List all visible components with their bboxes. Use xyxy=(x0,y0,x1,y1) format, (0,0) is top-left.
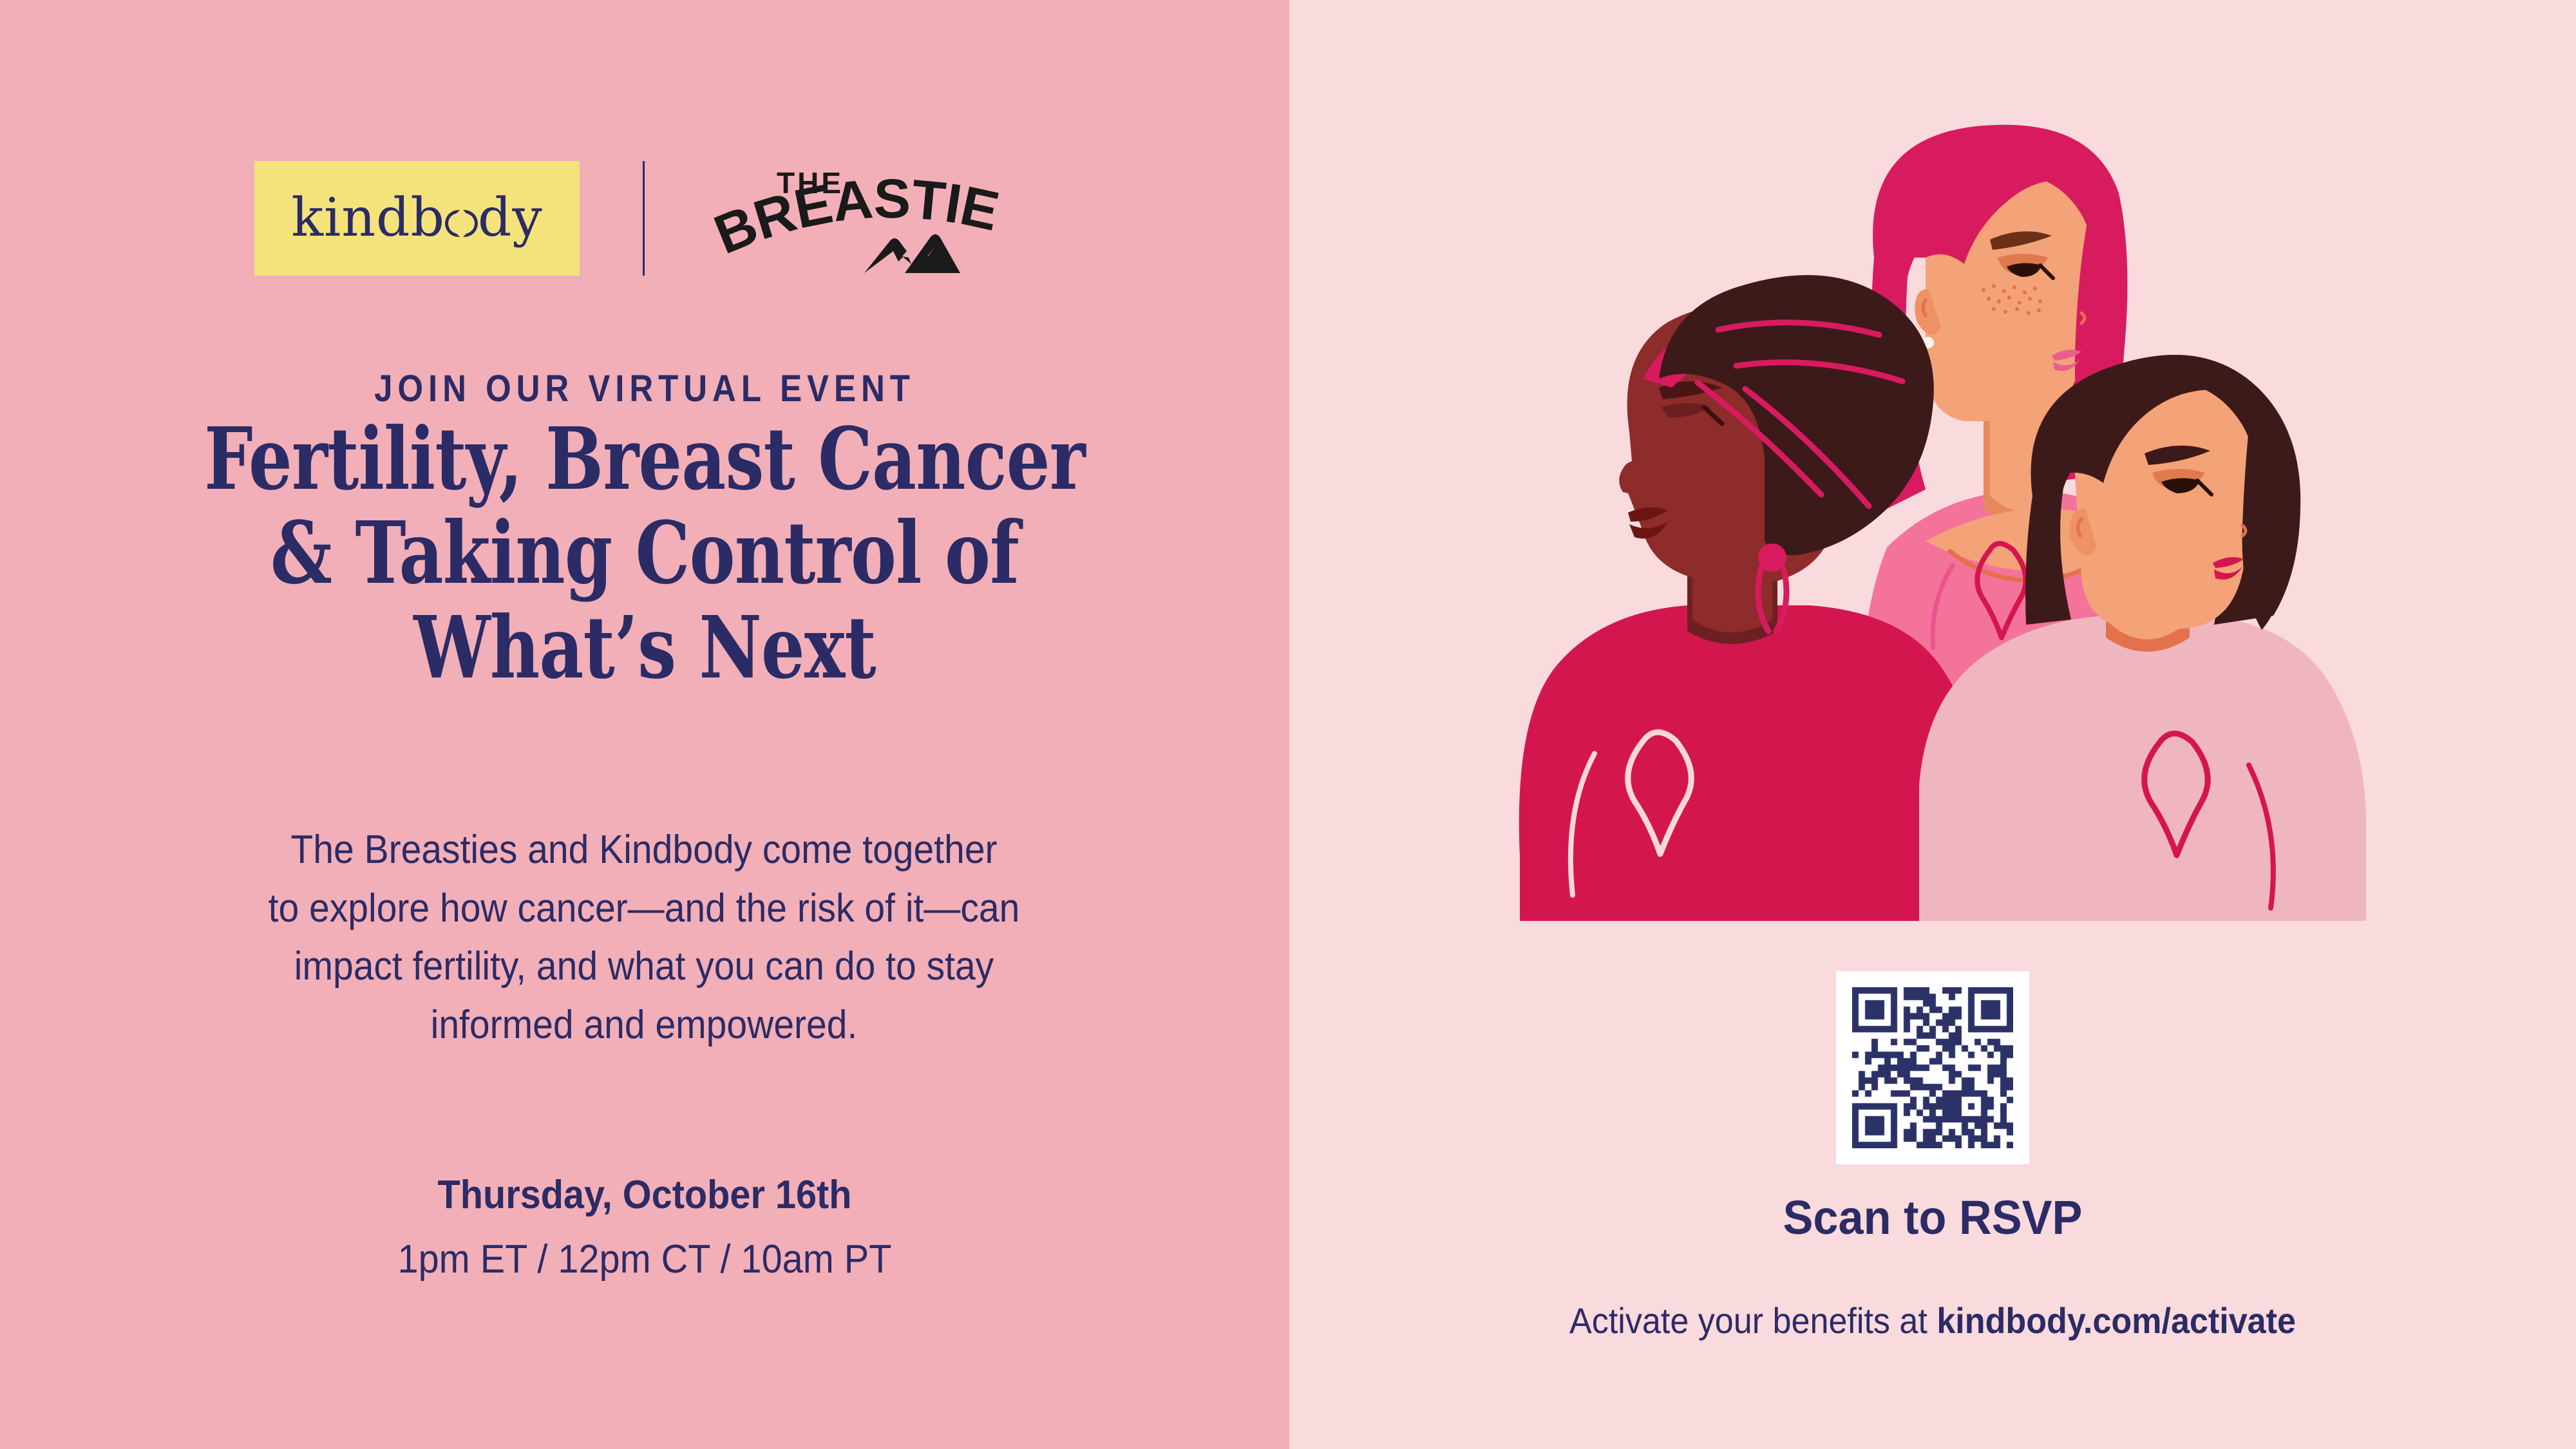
breasties-mountain-icon xyxy=(864,234,960,273)
logo-divider xyxy=(643,161,645,276)
rsvp-qr-code[interactable] xyxy=(1836,971,2029,1164)
body-line-4: informed and empowered. xyxy=(146,996,1142,1055)
three-women-illustration xyxy=(1475,97,2389,934)
breasties-wordmark-text: BREASTIES xyxy=(708,160,1004,266)
kindbody-o-glyph-icon xyxy=(445,210,478,238)
body-line-2: to explore how cancer—and the risk of it… xyxy=(146,880,1142,938)
right-shirt xyxy=(1919,616,2366,921)
body-line-1: The Breasties and Kindbody come together xyxy=(146,821,1142,880)
event-promo-poster: kindbdy THE BREASTIES JOIN OUR VIRTUAL E… xyxy=(0,0,2576,1449)
kindbody-wordmark: kindbdy xyxy=(291,192,542,245)
headline-line-3: What’s Next xyxy=(160,601,1130,695)
body-line-3: impact fertility, and what you can do to… xyxy=(146,938,1142,996)
kindbody-text-after: dy xyxy=(478,187,543,249)
headline-line-2: & Taking Control of xyxy=(160,506,1130,600)
activate-prefix: Activate your benefits at xyxy=(1569,1300,1937,1341)
event-kicker: JOIN OUR VIRTUAL EVENT xyxy=(77,367,1212,410)
headline-line-1: Fertility, Breast Cancer xyxy=(160,412,1130,506)
logo-lockup: kindbdy THE BREASTIES xyxy=(254,160,1053,277)
event-description: The Breasties and Kindbody come together… xyxy=(146,821,1142,1054)
breasties-logo-svg: THE BREASTIES xyxy=(708,160,1017,277)
page-title: Fertility, Breast Cancer & Taking Contro… xyxy=(160,412,1130,695)
activate-benefits-line: Activate your benefits at kindbody.com/a… xyxy=(1334,1300,2531,1341)
event-time: 1pm ET / 12pm CT / 10am PT xyxy=(45,1236,1244,1282)
kindbody-logo: kindbdy xyxy=(254,161,580,276)
event-date: Thursday, October 16th xyxy=(45,1172,1244,1218)
breasties-logo: THE BREASTIES xyxy=(708,160,1017,277)
qr-canvas[interactable] xyxy=(1852,987,2013,1148)
scan-to-rsvp-label: Scan to RSVP xyxy=(1321,1190,2544,1245)
illustration-svg xyxy=(1475,97,2389,934)
kindbody-text-before: kindb xyxy=(291,187,445,249)
activate-url[interactable]: kindbody.com/activate xyxy=(1937,1300,2296,1341)
